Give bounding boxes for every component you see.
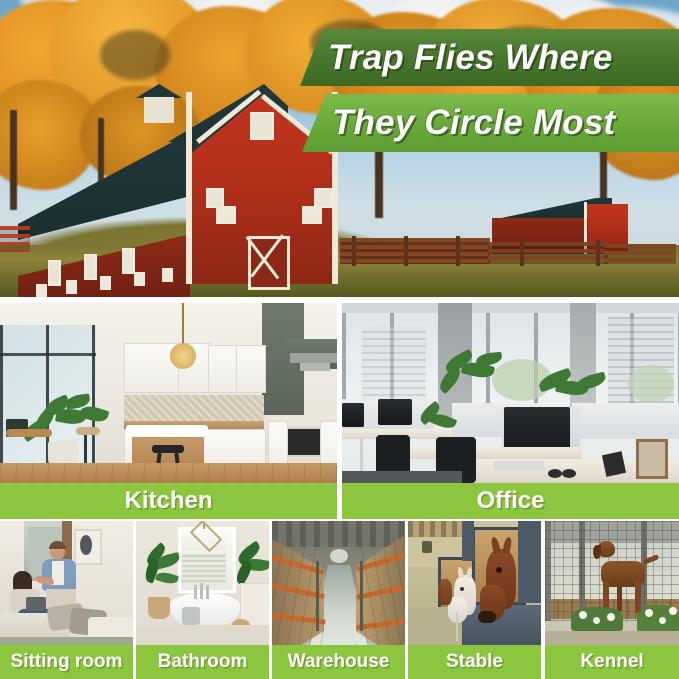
label-text-warehouse: Warehouse — [288, 651, 390, 673]
card-stable: Stable — [408, 521, 541, 679]
row-kitchen-office: Kitchen — [0, 303, 679, 519]
wooden-fence — [340, 238, 490, 264]
bathroom-photo — [136, 521, 269, 645]
headline-text-line1: Trap Flies Where — [328, 38, 613, 78]
headline-banner-line2: They Circle Most — [296, 94, 679, 152]
card-bathroom: Bathroom — [136, 521, 269, 679]
label-sitting-room: Sitting room — [0, 645, 133, 679]
label-text-stable: Stable — [446, 651, 503, 673]
wooden-fence — [604, 244, 676, 264]
label-text-bathroom: Bathroom — [158, 651, 248, 673]
label-office: Office — [342, 483, 679, 519]
card-kitchen: Kitchen — [0, 303, 337, 519]
label-text-office: Office — [476, 487, 544, 515]
label-text-kennel: Kennel — [580, 651, 643, 673]
label-warehouse: Warehouse — [272, 645, 405, 679]
red-gate — [0, 226, 30, 252]
card-kennel: Kennel — [545, 521, 679, 679]
stable-photo — [408, 521, 541, 645]
label-stable: Stable — [408, 645, 541, 679]
headline-banner-line1: Trap Flies Where — [296, 29, 679, 86]
headline-text-line2: They Circle Most — [332, 103, 615, 143]
product-infographic: Trap Flies Where They Circle Most — [0, 0, 679, 679]
label-text-sitting-room: Sitting room — [11, 651, 123, 673]
label-kennel: Kennel — [545, 645, 679, 679]
sitting-room-photo — [0, 521, 133, 645]
kitchen-photo — [0, 303, 337, 483]
warehouse-photo — [272, 521, 405, 645]
row-five-scenes: Sitting room — [0, 521, 679, 679]
kennel-photo — [545, 521, 679, 645]
label-bathroom: Bathroom — [136, 645, 269, 679]
hero-barn-photo: Trap Flies Where They Circle Most — [0, 0, 679, 297]
office-photo — [342, 303, 679, 483]
card-sitting-room: Sitting room — [0, 521, 133, 679]
label-text-kitchen: Kitchen — [124, 487, 212, 515]
wooden-fence — [488, 242, 608, 264]
card-warehouse: Warehouse — [272, 521, 405, 679]
card-office: Office — [342, 303, 679, 519]
label-kitchen: Kitchen — [0, 483, 337, 519]
